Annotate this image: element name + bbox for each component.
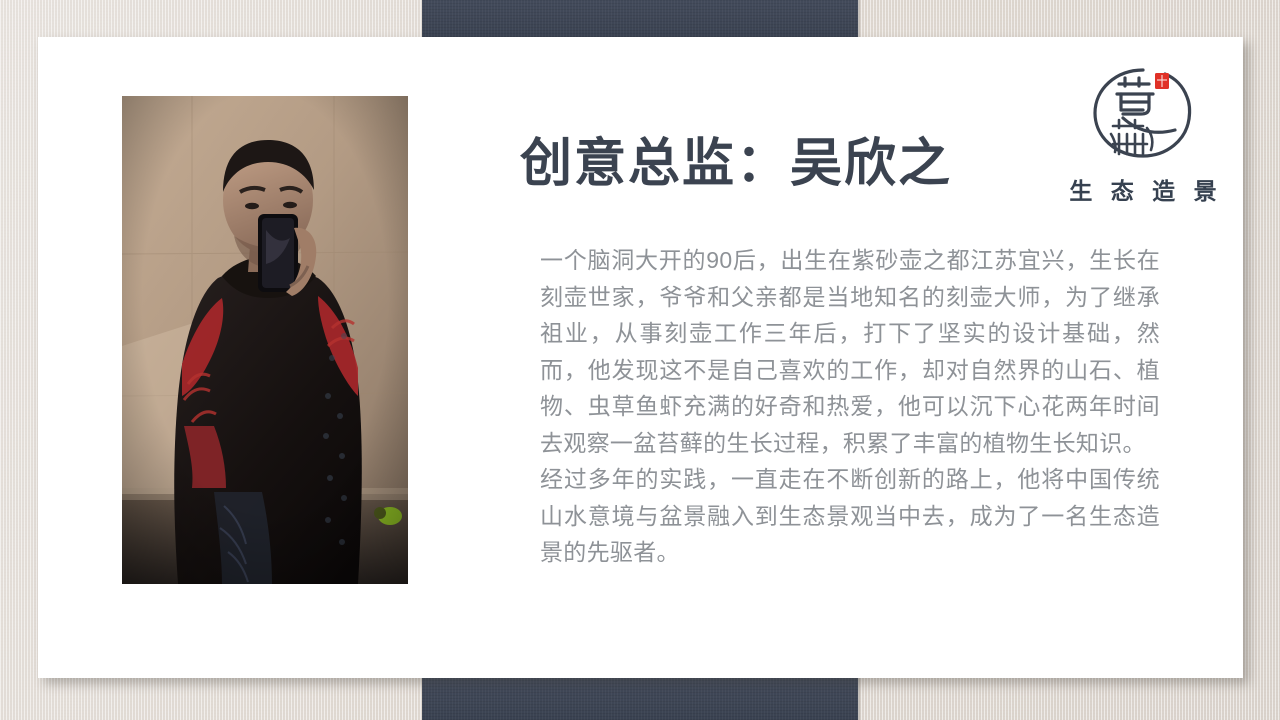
biography-paragraph-1: 一个脑洞大开的90后，出生在紫砂壶之都江苏宜兴，生长在刻壶世家，爷爷和父亲都是当… (540, 242, 1160, 461)
brand-logo: 生 态 造 景 (1055, 56, 1231, 211)
decorative-band-bottom (422, 676, 858, 720)
page-title: 创意总监：吴欣之 (520, 121, 952, 196)
profile-photo (122, 96, 408, 584)
profile-photo-image (122, 96, 408, 584)
seal-circle-icon (1055, 56, 1231, 168)
slide-canvas: 创意总监：吴欣之 一个脑洞大开的90后，出生在紫砂壶之都江苏宜兴，生长在刻壶世家… (0, 0, 1280, 720)
biography-paragraph-2: 经过多年的实践，一直走在不断创新的路上，他将中国传统山水意境与盆景融入到生态景观… (540, 461, 1160, 571)
brand-wordmark: 生 态 造 景 (1055, 172, 1231, 206)
content-card: 创意总监：吴欣之 一个脑洞大开的90后，出生在紫砂壶之都江苏宜兴，生长在刻壶世家… (38, 37, 1243, 678)
decorative-band-top (422, 0, 858, 40)
biography-text: 一个脑洞大开的90后，出生在紫砂壶之都江苏宜兴，生长在刻壶世家，爷爷和父亲都是当… (540, 242, 1160, 571)
